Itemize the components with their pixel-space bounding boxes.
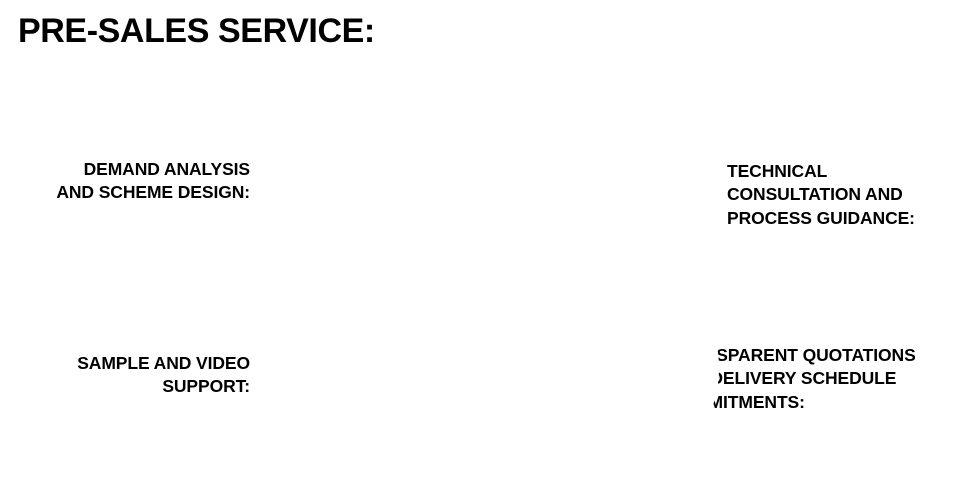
infographic-canvas: PRE-SALES SERVICE: DEMAND ANALYSIS AND S…: [0, 0, 960, 498]
crossed-pencils-design-icon: [270, 288, 480, 498]
circle-demand-analysis[interactable]: 24: [268, 85, 458, 275]
page-title: PRE-SALES SERVICE:: [18, 12, 375, 51]
label-demand-analysis: DEMAND ANALYSIS AND SCHEME DESIGN:: [10, 158, 250, 205]
circle-transparent-quotations[interactable]: [492, 260, 708, 476]
circle-cluster: 24: [260, 78, 680, 490]
label-technical-consultation: TECHNICAL CONSULTATION AND PROCESS GUIDA…: [727, 160, 955, 230]
label-sample-and-video: SAMPLE AND VIDEO SUPPORT:: [10, 352, 250, 399]
clock-24-hour-rotate-arrow-icon: 24: [268, 85, 458, 275]
shield-check-icon: [492, 260, 708, 476]
icon-text-24: 24: [340, 174, 390, 225]
circle-sample-and-video[interactable]: [270, 288, 480, 498]
